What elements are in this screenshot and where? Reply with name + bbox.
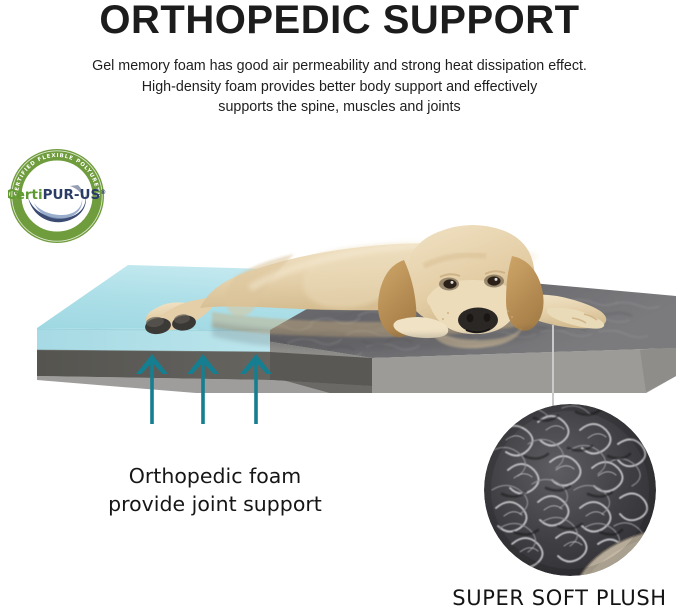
foam-caption-line-2: provide joint support bbox=[40, 490, 390, 518]
plush-texture-closeup bbox=[484, 404, 656, 576]
dog-bed-illustration bbox=[0, 180, 679, 400]
foam-caption-line-1: Orthopedic foam bbox=[40, 462, 390, 490]
subtitle-line-3: supports the spine, muscles and joints bbox=[50, 97, 629, 118]
page-title: ORTHOPEDIC SUPPORT bbox=[0, 0, 679, 43]
arrow-up-icon bbox=[136, 354, 272, 424]
subtitle-line-2: High-density foam provides better body s… bbox=[50, 77, 629, 98]
plush-label: SUPER SOFT PLUSH bbox=[440, 586, 679, 610]
subtitle-paragraph: Gel memory foam has good air permeabilit… bbox=[50, 56, 629, 118]
product-infographic: ORTHOPEDIC SUPPORT Gel memory foam has g… bbox=[0, 0, 679, 612]
plush-leader-line bbox=[552, 325, 554, 410]
orthopedic-support-arrows bbox=[120, 352, 300, 432]
subtitle-line-1: Gel memory foam has good air permeabilit… bbox=[50, 56, 629, 77]
orthopedic-foam-caption: Orthopedic foam provide joint support bbox=[40, 462, 390, 518]
dog-nose bbox=[458, 308, 498, 333]
